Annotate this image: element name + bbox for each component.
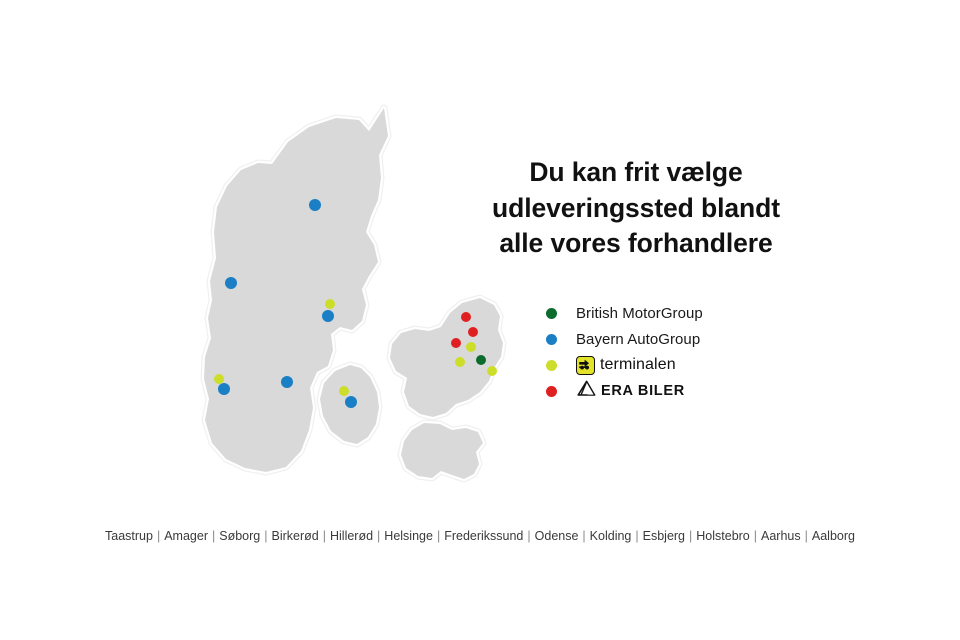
brand-legend: British MotorGroup Bayern AutoGroup term… (546, 300, 806, 404)
map-marker-holstebro[interactable] (225, 277, 237, 289)
denmark-map (180, 90, 520, 500)
city-separator: | (631, 529, 642, 543)
city-name: Hillerød (330, 529, 373, 543)
legend-color-dot-red (546, 386, 557, 397)
map-region-zealand (390, 298, 503, 417)
city-separator: | (750, 529, 761, 543)
city-separator: | (319, 529, 330, 543)
map-marker-s-borg[interactable] (476, 355, 486, 365)
headline-line-3: alle vores forhandlere (456, 226, 816, 262)
city-separator: | (578, 529, 589, 543)
city-name: Frederikssund (444, 529, 523, 543)
headline-line-2: udleveringssted blandt (456, 191, 816, 227)
city-separator: | (433, 529, 444, 543)
map-marker-esbjerg[interactable] (214, 374, 224, 384)
map-marker-birker-d[interactable] (466, 342, 476, 352)
era-biler-wordmark: ERA BILER (601, 384, 685, 399)
era-biler-brand-lockup: ERA BILER (576, 380, 685, 402)
map-marker-odense[interactable] (339, 386, 349, 396)
map-marker-odense[interactable] (345, 396, 357, 408)
city-name: Esbjerg (643, 529, 685, 543)
city-list: Taastrup|Amager|Søborg|Birkerød|Hillerød… (0, 528, 960, 544)
map-marker-frederikssund[interactable] (451, 338, 461, 348)
city-name: Søborg (219, 529, 260, 543)
city-separator: | (523, 529, 534, 543)
city-separator: | (260, 529, 271, 543)
terminalen-wordmark: terminalen (600, 357, 676, 373)
map-marker-helsinge[interactable] (461, 312, 471, 322)
city-name: Taastrup (105, 529, 153, 543)
city-name: Birkerød (272, 529, 319, 543)
terminalen-logo-icon (576, 356, 595, 375)
headline-line-1: Du kan frit vælge (456, 155, 816, 191)
map-marker-taastrup[interactable] (455, 357, 465, 367)
legend-label-bayern-autogroup: Bayern AutoGroup (576, 332, 700, 347)
city-separator: | (373, 529, 384, 543)
map-svg (180, 90, 520, 500)
legend-color-dot-green (546, 308, 557, 319)
legend-item-era-biler: ERA BILER (546, 378, 806, 404)
legend-item-british-motorgroup: British MotorGroup (546, 300, 806, 326)
map-marker-amager[interactable] (487, 366, 497, 376)
legend-color-dot-lime (546, 360, 557, 371)
city-name: Helsinge (384, 529, 433, 543)
map-region-lolland-falster (401, 423, 483, 479)
page-title: Du kan frit vælge udleveringssted blandt… (456, 155, 816, 262)
legend-item-terminalen: terminalen (546, 352, 806, 378)
legend-item-bayern-autogroup: Bayern AutoGroup (546, 326, 806, 352)
city-name: Odense (535, 529, 579, 543)
city-name: Aarhus (761, 529, 801, 543)
city-separator: | (153, 529, 164, 543)
city-name: Amager (164, 529, 208, 543)
legend-color-dot-blue (546, 334, 557, 345)
map-marker-aarhus[interactable] (325, 299, 335, 309)
city-name: Aalborg (812, 529, 855, 543)
map-marker-aarhus[interactable] (322, 310, 334, 322)
map-marker-kolding[interactable] (281, 376, 293, 388)
terminalen-brand-lockup: terminalen (576, 356, 676, 375)
city-separator: | (685, 529, 696, 543)
poster-canvas: Du kan frit vælge udleveringssted blandt… (0, 0, 960, 640)
city-separator: | (801, 529, 812, 543)
map-marker-esbjerg[interactable] (218, 383, 230, 395)
map-marker-aalborg[interactable] (309, 199, 321, 211)
legend-label-british-motorgroup: British MotorGroup (576, 306, 703, 321)
city-separator: | (208, 529, 219, 543)
city-name: Kolding (590, 529, 632, 543)
city-name: Holstebro (696, 529, 750, 543)
era-biler-logo-icon (576, 380, 597, 402)
map-marker-hiller-d[interactable] (468, 327, 478, 337)
